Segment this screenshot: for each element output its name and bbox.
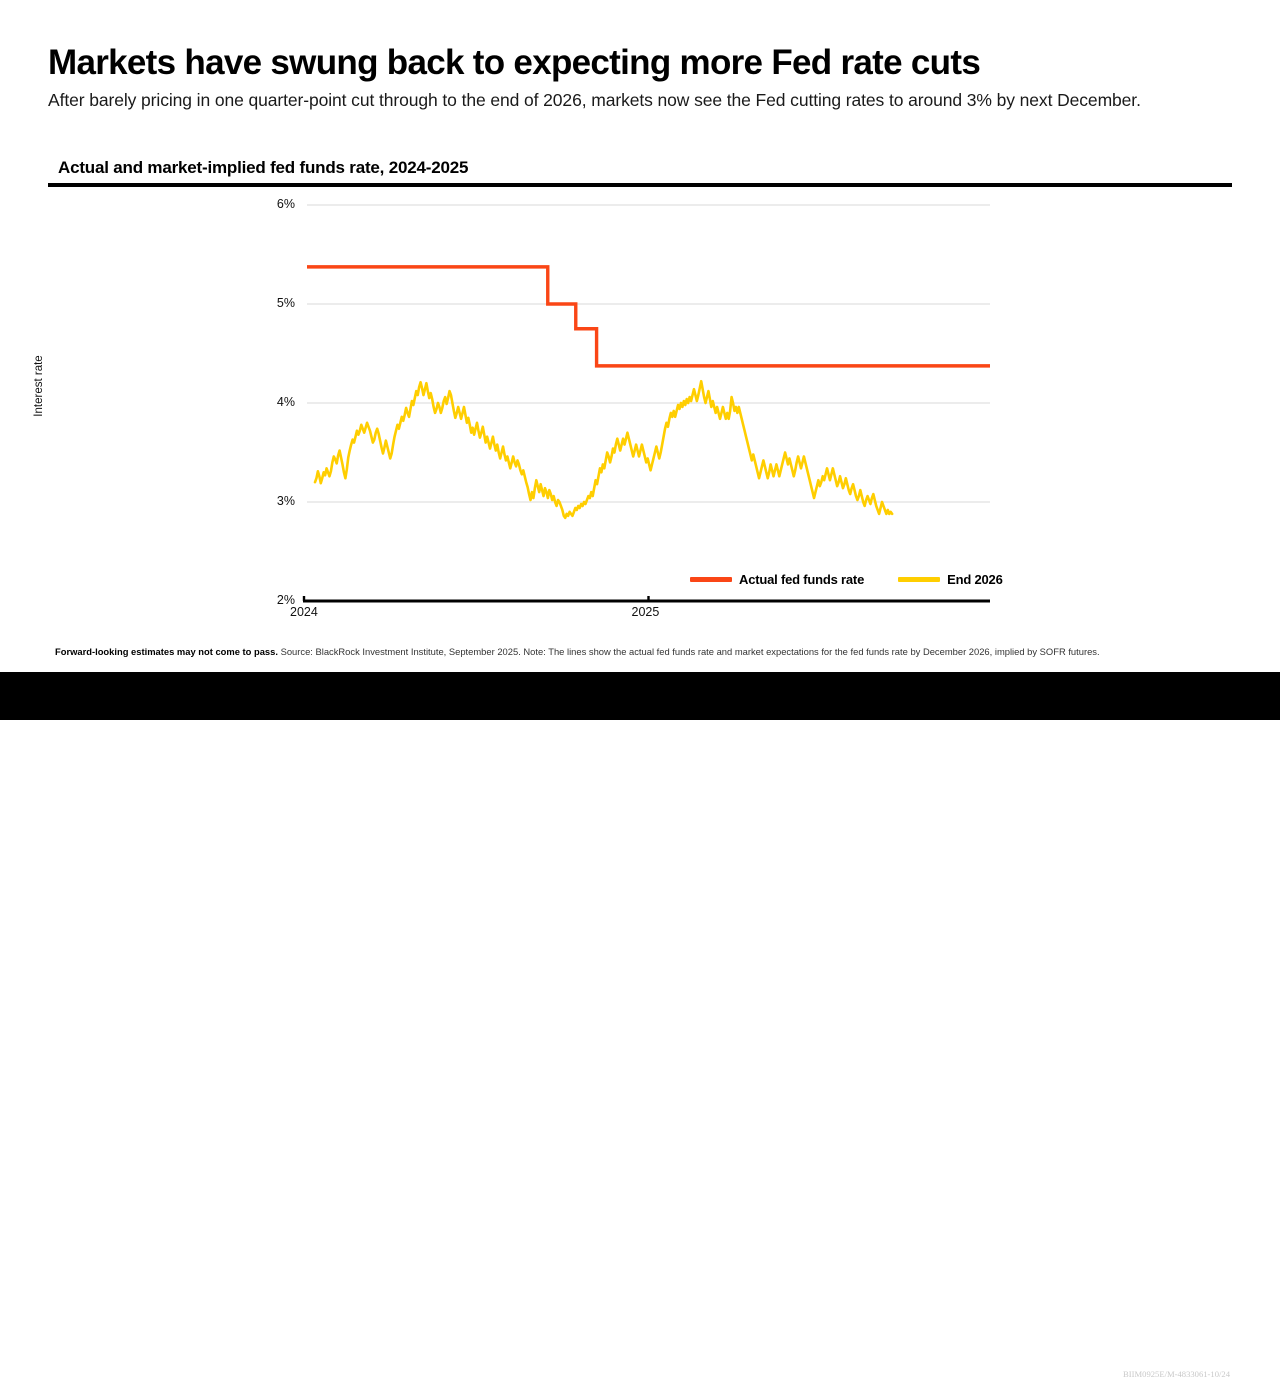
x-axis-tick-label: 2025 — [632, 605, 660, 619]
page-title: Markets have swung back to expecting mor… — [48, 42, 1228, 84]
legal-disclaimer: CAPITAL AT RISK. INVESTMENTS CAN RISE OR… — [340, 1350, 940, 1384]
y-axis-tick-label: 4% — [255, 395, 295, 409]
y-axis-tick-label: 3% — [255, 494, 295, 508]
title-divider — [48, 183, 1232, 187]
page-number: 10 — [1232, 1361, 1248, 1377]
chart-footnote: Forward-looking estimates may not come t… — [55, 645, 1235, 658]
page-subtitle: After barely pricing in one quarter-poin… — [48, 88, 1188, 112]
y-axis-tick-label: 5% — [255, 296, 295, 310]
slide-canvas: Markets have swung back to expecting mor… — [0, 0, 1280, 720]
legend-swatch-actual — [690, 577, 732, 582]
chart-plot — [0, 190, 1280, 630]
x-axis-tick-label: 2024 — [290, 605, 318, 619]
chart-title: Actual and market-implied fed funds rate… — [58, 158, 468, 178]
y-axis-tick-label: 2% — [255, 593, 295, 607]
blackrock-logo: BlackRock. — [48, 1361, 135, 1381]
legend-item-end-2026: End 2026 — [898, 572, 1003, 587]
disclaimer-line-2: SELECT COUNTRIES IN EUROPE (SEE THE FULL… — [340, 1361, 940, 1372]
legend-label-end-2026: End 2026 — [947, 572, 1003, 587]
legend-swatch-end-2026 — [898, 577, 940, 582]
chart-area: Interest rate 2%3%4%5%6%20242025 — [0, 190, 1280, 630]
document-code: BIIM0925E/M-4833061-10/24 — [1123, 1369, 1230, 1379]
y-axis-title: Interest rate — [33, 326, 45, 446]
legend-item-actual: Actual fed funds rate — [690, 572, 864, 587]
legend-label-actual: Actual fed funds rate — [739, 572, 864, 587]
disclaimer-line-3: FOR INSTITUTIONAL, PROFESSIONAL, AND QUA… — [340, 1373, 940, 1384]
footnote-body: Source: BlackRock Investment Institute, … — [278, 646, 1100, 657]
chart-legend: Actual fed funds rate End 2026 — [690, 572, 1003, 587]
y-axis-tick-label: 6% — [255, 197, 295, 211]
footnote-lead: Forward-looking estimates may not come t… — [55, 646, 278, 657]
disclaimer-line-1: CAPITAL AT RISK. INVESTMENTS CAN RISE OR… — [340, 1350, 940, 1361]
footer-bar: BlackRock. CAPITAL AT RISK. INVESTMENTS … — [0, 672, 1280, 720]
